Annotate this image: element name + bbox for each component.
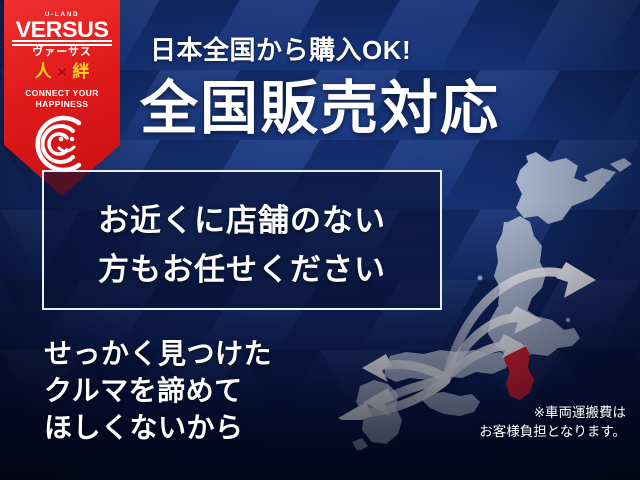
callout-line2: 方もお任せください	[44, 244, 440, 289]
brand-kana-label: ヴァーサス	[4, 46, 120, 59]
tagline: CONNECT YOUR HAPPINESS	[4, 88, 120, 109]
headline-large: 全国販売対応	[140, 80, 500, 138]
smiley-c-emblem-icon	[31, 113, 93, 175]
message-line2: クルマを諦めて	[44, 373, 272, 410]
brand-rule-top	[12, 40, 112, 42]
tagline-line2: HAPPINESS	[4, 99, 120, 110]
disclaimer-note: ※車両運搬費は お客様負担となります。	[479, 403, 626, 442]
message-block: せっかく見つけた クルマを諦めて ほしくないから	[44, 336, 272, 447]
slogan-cross-icon: ×	[58, 64, 67, 81]
promo-banner: U-LAND VERSUS ヴァーサス 人×絆 CONNECT YOUR HAP…	[0, 0, 640, 480]
versus-logo-ribbon[interactable]: U-LAND VERSUS ヴァーサス 人×絆 CONNECT YOUR HAP…	[4, 0, 120, 196]
callout-box: お近くに店舗のない 方もお任せください	[42, 170, 442, 310]
tagline-line1: CONNECT YOUR	[4, 88, 120, 99]
brand-label: VERSUS	[1, 19, 124, 41]
message-line3: ほしくないから	[44, 410, 272, 447]
disclaimer-line2: お客様負担となります。	[479, 422, 626, 442]
slogan-left-label: 人	[35, 62, 52, 81]
headline-small: 日本全国から購入OK!	[150, 30, 411, 67]
slogan-row: 人×絆	[4, 63, 120, 80]
message-line1: せっかく見つけた	[44, 336, 272, 373]
disclaimer-line1: ※車両運搬費は	[479, 403, 626, 423]
callout-line1: お近くに店舗のない	[44, 195, 440, 240]
slogan-right-label: 絆	[72, 62, 89, 81]
